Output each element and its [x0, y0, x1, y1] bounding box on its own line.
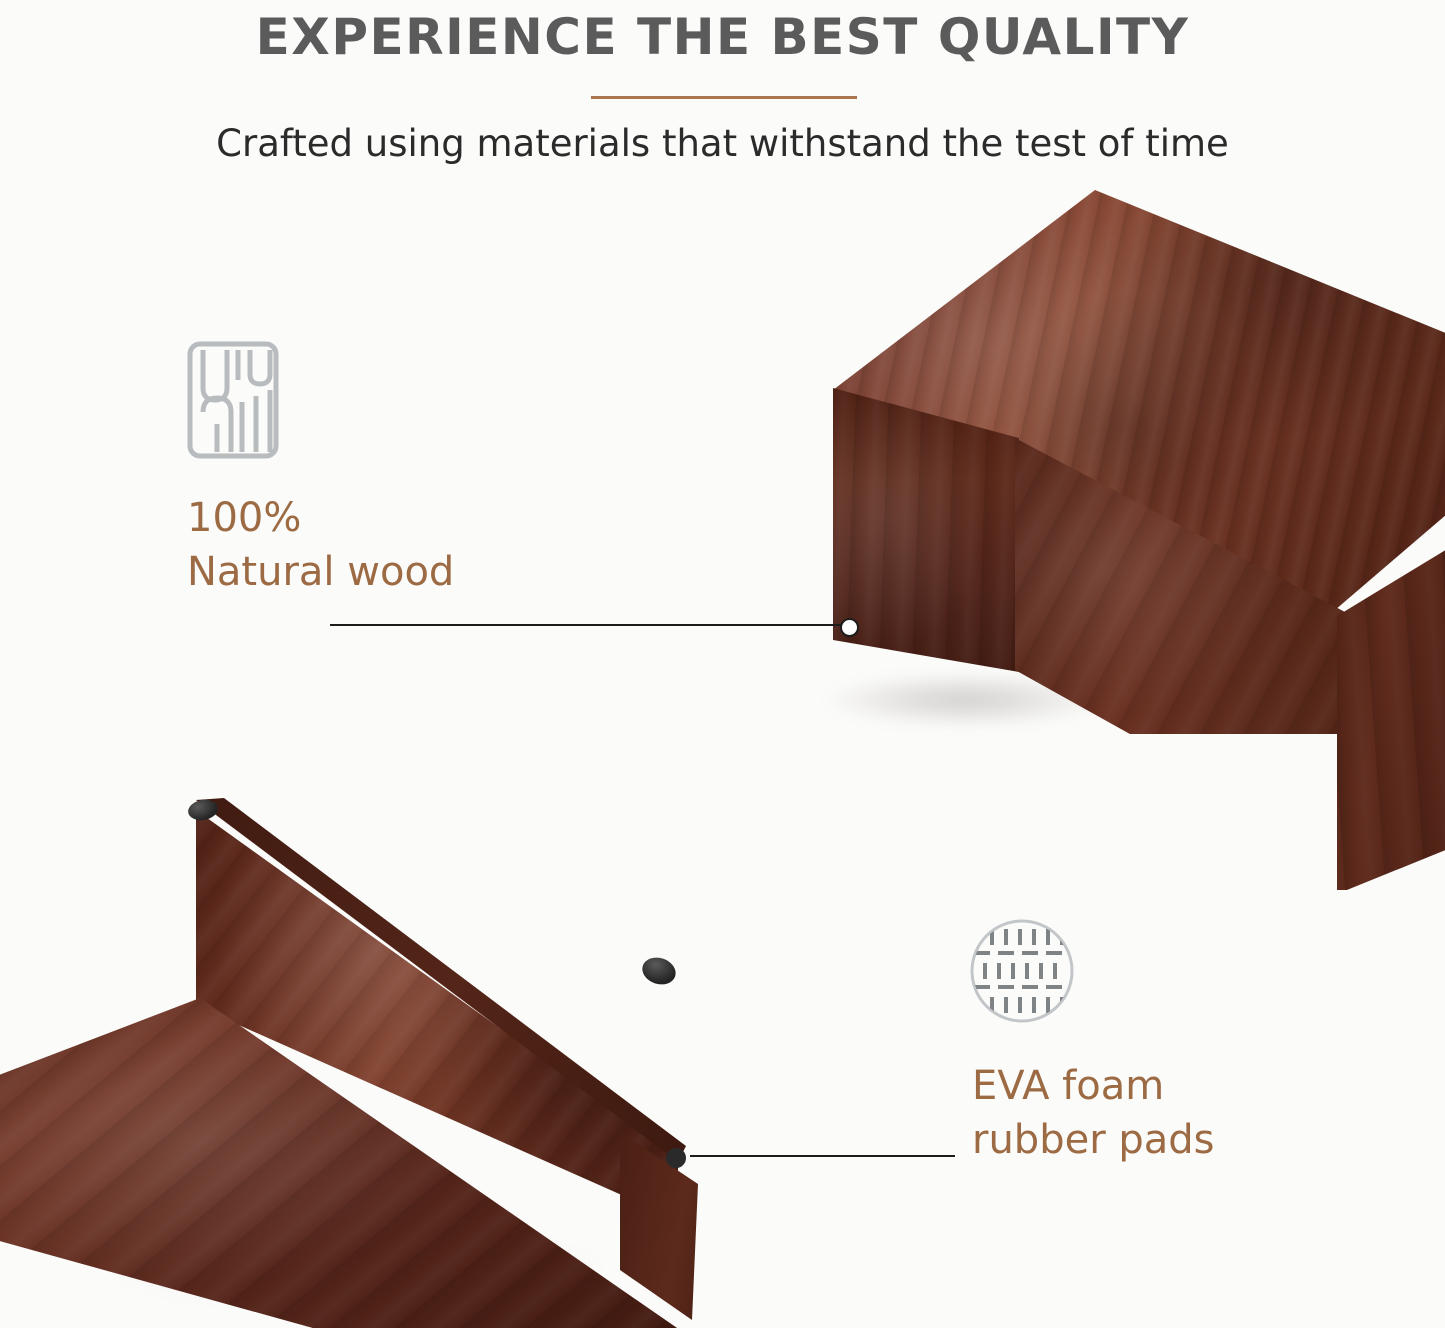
page-subtitle: Crafted using materials that withstand t… [0, 122, 1445, 165]
lower-riser [0, 790, 760, 1328]
leader-line-wood [330, 624, 845, 626]
upper-riser [815, 190, 1445, 890]
page-title: EXPERIENCE THE BEST QUALITY [0, 8, 1445, 66]
callout-label-natural-wood: 100% Natural wood [187, 492, 454, 599]
leader-marker-wood [840, 618, 859, 637]
leader-line-foam [690, 1155, 955, 1157]
upper-riser-left-face [823, 386, 1033, 706]
callout-label-eva-foam: EVA foam rubber pads [972, 1060, 1214, 1167]
woven-foam-texture-icon [968, 917, 1076, 1025]
product-infographic: EXPERIENCE THE BEST QUALITY Crafted usin… [0, 0, 1445, 1328]
wood-grain-icon [186, 340, 280, 460]
title-divider [591, 96, 857, 99]
leader-marker-foam [666, 1148, 686, 1168]
